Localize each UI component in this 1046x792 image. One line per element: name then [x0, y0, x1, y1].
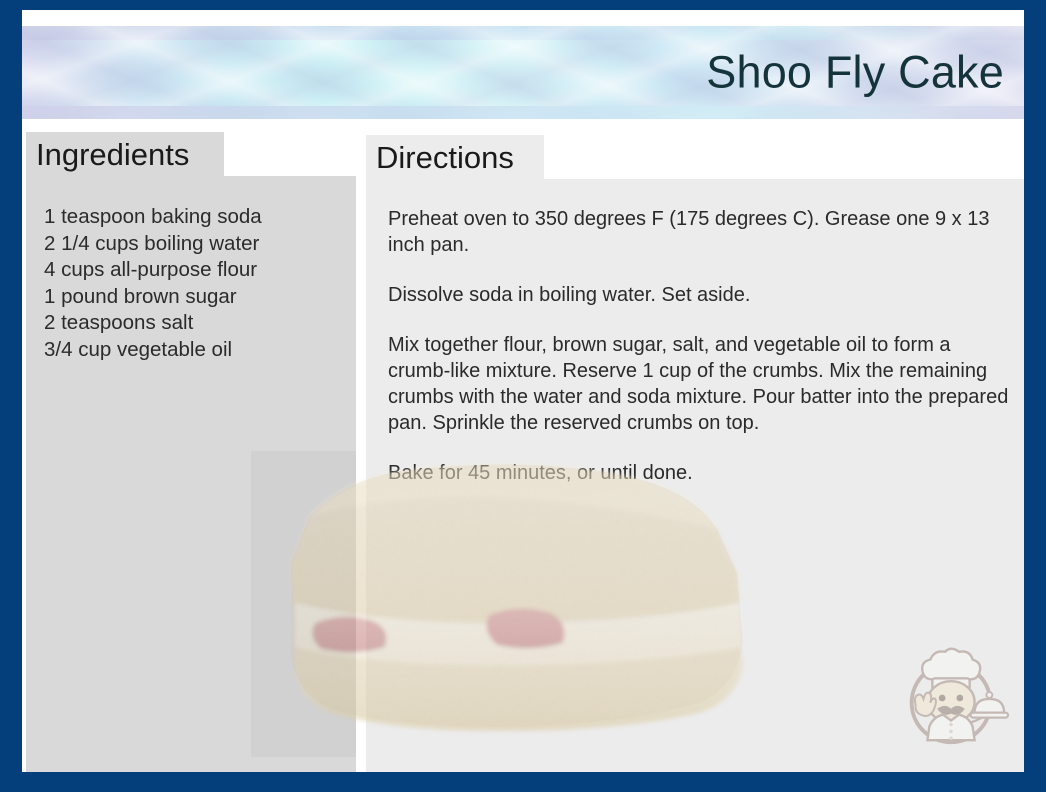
directions-body: Preheat oven to 350 degrees F (175 degre…: [388, 206, 1016, 486]
direction-step: Mix together flour, brown sugar, salt, a…: [388, 332, 1016, 436]
ingredient-list: 1 teaspoon baking soda 2 1/4 cups boilin…: [44, 204, 348, 363]
section-heading-ingredients: Ingredients: [26, 132, 224, 176]
recipe-card-inner: Shoo Fly Cake Ingredients 1 teaspoon bak…: [22, 10, 1024, 772]
list-item: 1 teaspoon baking soda: [44, 204, 348, 231]
list-item: 4 cups all-purpose flour: [44, 257, 348, 284]
list-item: 1 pound brown sugar: [44, 284, 348, 311]
direction-step: Bake for 45 minutes, or until done.: [388, 460, 1016, 486]
banner-bottom-band: [22, 106, 1024, 119]
directions-heading-label: Directions: [376, 142, 514, 173]
ingredients-panel: 1 teaspoon baking soda 2 1/4 cups boilin…: [26, 176, 356, 772]
list-item: 2 teaspoons salt: [44, 310, 348, 337]
directions-panel: Preheat oven to 350 degrees F (175 degre…: [366, 179, 1024, 772]
page-title: Shoo Fly Cake: [706, 48, 1004, 95]
list-item: 3/4 cup vegetable oil: [44, 337, 348, 364]
ingredients-heading-label: Ingredients: [36, 139, 189, 170]
direction-step: Dissolve soda in boiling water. Set asid…: [388, 282, 1016, 308]
recipe-card: Shoo Fly Cake Ingredients 1 teaspoon bak…: [0, 0, 1046, 792]
section-heading-directions: Directions: [366, 135, 544, 179]
header-banner: Shoo Fly Cake: [22, 26, 1024, 119]
list-item: 2 1/4 cups boiling water: [44, 231, 348, 258]
direction-step: Preheat oven to 350 degrees F (175 degre…: [388, 206, 1016, 258]
banner-top-band: [22, 26, 1024, 40]
